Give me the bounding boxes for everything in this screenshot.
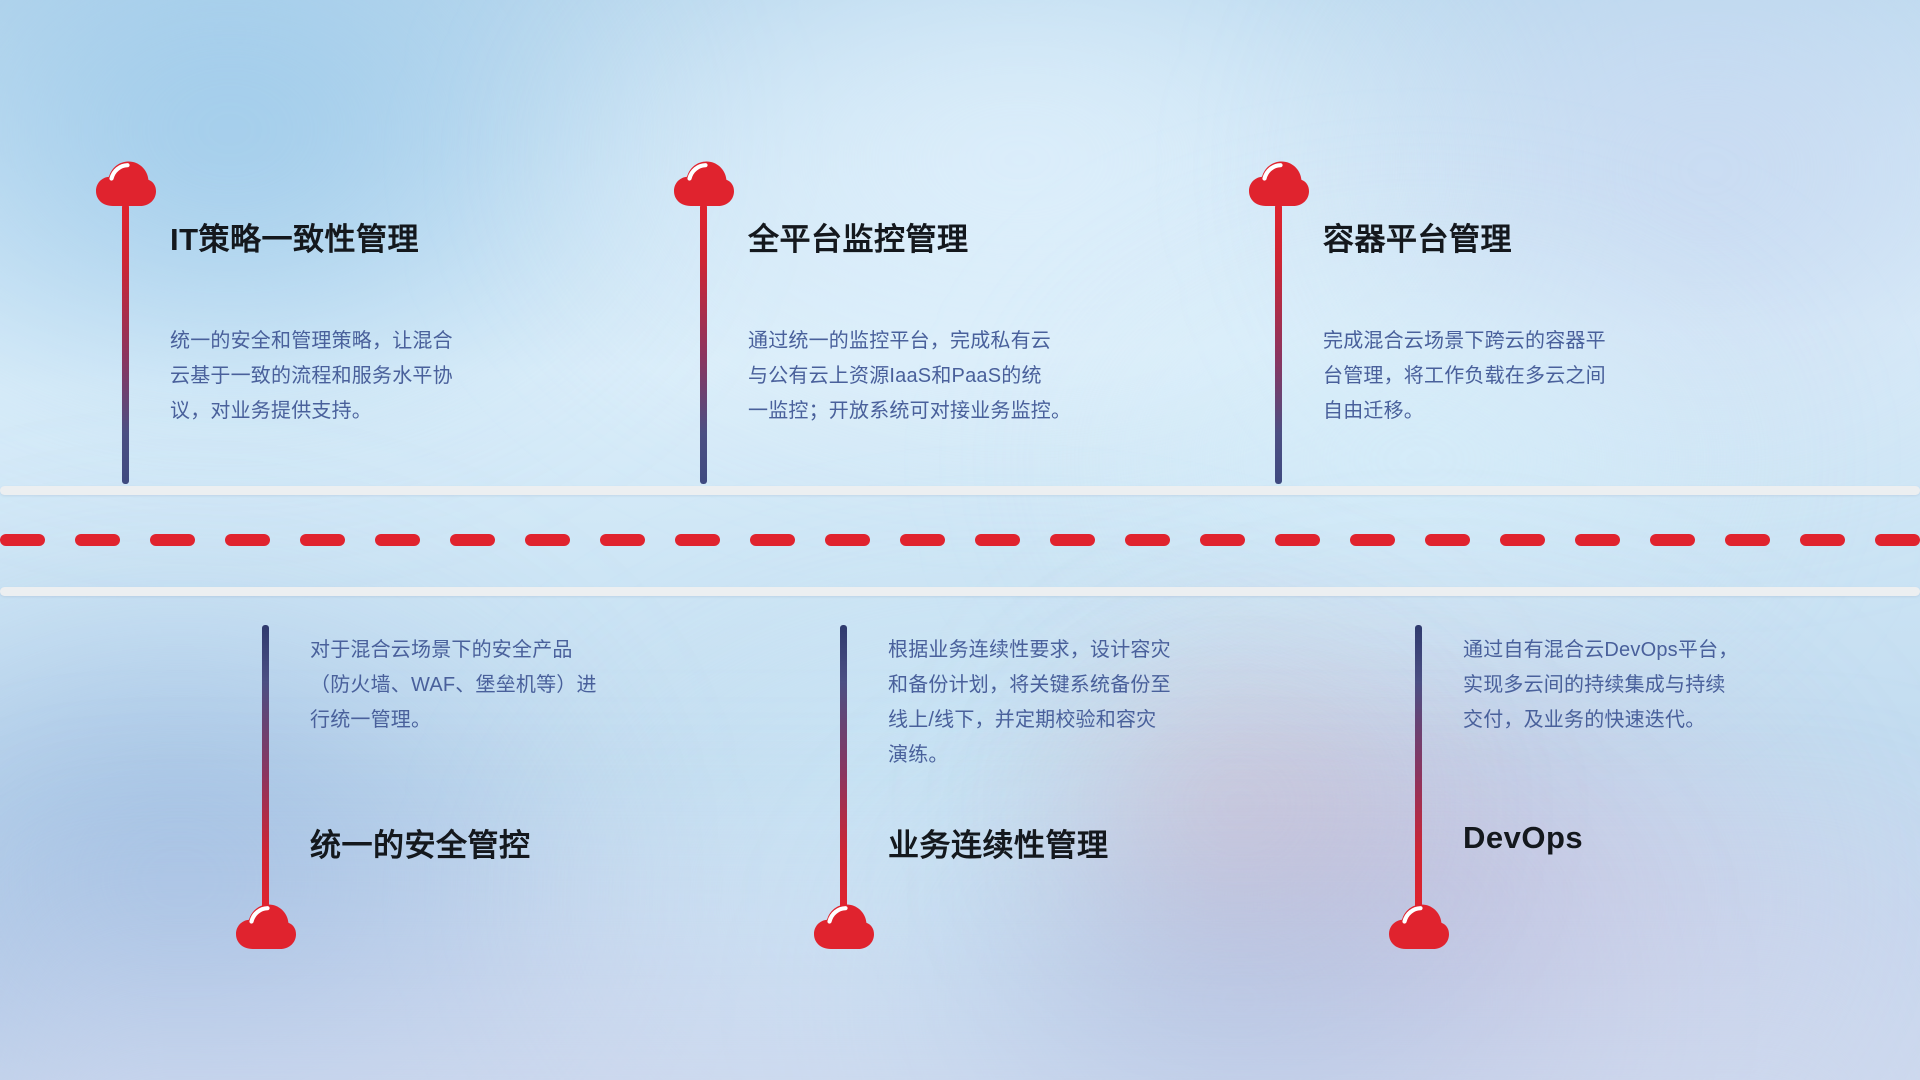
road-edge-bottom [0, 587, 1920, 596]
description-line: 完成混合云场景下跨云的容器平 [1323, 324, 1688, 359]
cloud-icon [673, 160, 735, 208]
road-dash-segment [450, 534, 495, 546]
road-dash-segment [75, 534, 120, 546]
cloud-icon [235, 903, 297, 951]
pin-title: 业务连续性管理 [888, 820, 1109, 865]
road-dash-segment [1725, 534, 1770, 546]
description-line: 与公有云上资源IaaS和PaaS的统 [748, 359, 1113, 394]
description-line: 和备份计划，将关键系统备份至 [888, 668, 1253, 703]
description-line: 统一的安全和管理策略，让混合 [170, 324, 535, 359]
description-line: 线上/线下，并定期校验和容灾 [888, 703, 1253, 738]
description-line: 云基于一致的流程和服务水平协 [170, 359, 535, 394]
road-dash-segment [1500, 534, 1545, 546]
description-line: 根据业务连续性要求，设计容灾 [888, 633, 1253, 668]
road-dash-segment [1800, 534, 1845, 546]
description-line: 通过统一的监控平台，完成私有云 [748, 324, 1113, 359]
road-edge-top [0, 486, 1920, 495]
cloud-icon [813, 903, 875, 951]
description-line: 自由迁移。 [1323, 394, 1688, 429]
pin-description: 统一的安全和管理策略，让混合云基于一致的流程和服务水平协议，对业务提供支持。 [170, 324, 535, 429]
pin-description: 对于混合云场景下的安全产品（防火墙、WAF、堡垒机等）进行统一管理。 [310, 633, 675, 738]
road-dash-segment [1350, 534, 1395, 546]
pin-stem [700, 204, 707, 484]
description-line: （防火墙、WAF、堡垒机等）进 [310, 668, 675, 703]
description-line: 台管理，将工作负载在多云之间 [1323, 359, 1688, 394]
description-line: 交付，及业务的快速迭代。 [1463, 703, 1828, 738]
road-dash-segment [1875, 534, 1920, 546]
road-center-dashes [0, 534, 1920, 546]
road-dash-segment [1275, 534, 1320, 546]
pin-title: 统一的安全管控 [310, 820, 531, 865]
pin-stem [1415, 625, 1422, 910]
pin-title: DevOps [1463, 820, 1583, 856]
pin-title: 容器平台管理 [1323, 214, 1512, 259]
road-dash-segment [375, 534, 420, 546]
road-dash-segment [0, 534, 45, 546]
cloud-icon [95, 160, 157, 208]
pin-description: 根据业务连续性要求，设计容灾和备份计划，将关键系统备份至线上/线下，并定期校验和… [888, 633, 1253, 773]
pin-title: IT策略一致性管理 [170, 214, 419, 259]
road-divider [0, 486, 1920, 596]
pin-stem [122, 204, 129, 484]
road-dash-segment [900, 534, 945, 546]
pin-description: 通过自有混合云DevOps平台，实现多云间的持续集成与持续交付，及业务的快速迭代… [1463, 633, 1828, 738]
road-dash-segment [750, 534, 795, 546]
road-dash-segment [150, 534, 195, 546]
road-dash-segment [975, 534, 1020, 546]
road-dash-segment [675, 534, 720, 546]
description-line: 演练。 [888, 738, 1253, 773]
pin-stem [1275, 204, 1282, 484]
description-line: 通过自有混合云DevOps平台， [1463, 633, 1828, 668]
pin-title: 全平台监控管理 [748, 214, 969, 259]
description-line: 实现多云间的持续集成与持续 [1463, 668, 1828, 703]
road-dash-segment [1200, 534, 1245, 546]
description-line: 行统一管理。 [310, 703, 675, 738]
description-line: 一监控；开放系统可对接业务监控。 [748, 394, 1113, 429]
description-line: 议，对业务提供支持。 [170, 394, 535, 429]
pin-description: 完成混合云场景下跨云的容器平台管理，将工作负载在多云之间自由迁移。 [1323, 324, 1688, 429]
pin-stem [840, 625, 847, 910]
cloud-icon [1248, 160, 1310, 208]
road-dash-segment [825, 534, 870, 546]
pin-stem [262, 625, 269, 910]
road-dash-segment [525, 534, 570, 546]
road-dash-segment [1425, 534, 1470, 546]
road-dash-segment [1575, 534, 1620, 546]
road-dash-segment [300, 534, 345, 546]
road-dash-segment [1125, 534, 1170, 546]
road-dash-segment [600, 534, 645, 546]
road-dash-segment [225, 534, 270, 546]
road-dash-segment [1050, 534, 1095, 546]
pin-description: 通过统一的监控平台，完成私有云与公有云上资源IaaS和PaaS的统一监控；开放系… [748, 324, 1113, 429]
background-blob-mid-right [1040, 250, 1800, 670]
road-dash-segment [1650, 534, 1695, 546]
cloud-icon [1388, 903, 1450, 951]
description-line: 对于混合云场景下的安全产品 [310, 633, 675, 668]
